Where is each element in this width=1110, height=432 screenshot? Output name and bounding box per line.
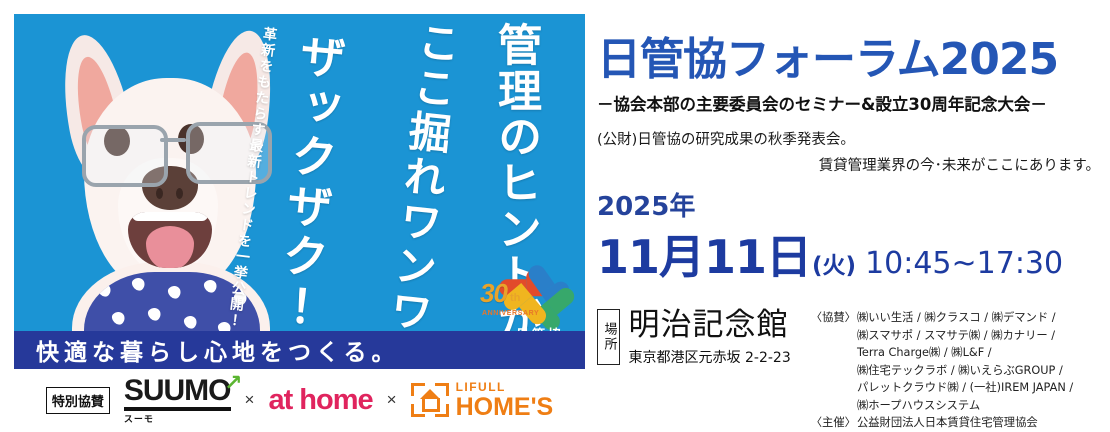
event-day-of-week: (火) [812, 246, 856, 280]
suumo-wordmark: SUUMO [124, 376, 231, 406]
sponsor-line: ㈱スマサポ / スマサテ㈱ / ㈱カナリー / [857, 327, 1073, 345]
eyeglasses-icon [80, 122, 266, 182]
suumo-arrow-icon: ↗ [224, 370, 242, 396]
event-subtitle: －協会本部の主要委員会のセミナー&設立30周年記念大会－ [597, 91, 1102, 115]
event-date-time: 11月11日 (火) 10:45~17:30 [597, 221, 1102, 287]
suumo-underline [124, 407, 231, 411]
lifull-wordmark: LIFULL [456, 381, 554, 393]
host-row: 〈主催〉 公益財団法人日本賃貸住宅管理協会 [811, 414, 1102, 432]
lifull-homes-logo[interactable]: LIFULL HOME'S [411, 381, 554, 420]
separator-times-2: × [387, 390, 397, 410]
event-year: 2025年 [597, 186, 1102, 223]
sponsor-line: Terra Charge㈱ / ㈱L&F / [857, 344, 1073, 362]
event-title: 日管協フォーラム2025 [597, 38, 1102, 82]
separator-times-1: × [245, 390, 255, 410]
venue-label: 場所 [597, 309, 620, 365]
sponsor-line: ㈱住宅テックラボ / ㈱いえらぶGROUP / [857, 362, 1073, 380]
sponsor-line: ㈱いい生活 / ㈱クラスコ / ㈱デマンド / [857, 309, 1073, 327]
anniversary-number: 30 [480, 278, 507, 309]
sponsor-strip: 特別協賛 SUUMO スーモ ↗ × at home × LIFULL HOME… [14, 375, 585, 425]
venue-block: 場所 明治記念館 東京都港区元赤坂 2-2-23 [597, 309, 791, 432]
poster-root: 革新をもたらす最新トレンドを一挙公開！ ザックザク！ ここ掘れワンワン！ 管理の… [0, 0, 1110, 432]
host-key: 〈主催〉 [811, 414, 856, 432]
venue-and-organizers-row: 場所 明治記念館 東京都港区元赤坂 2-2-23 〈協賛〉 ㈱いい生活 / ㈱ク… [597, 309, 1102, 432]
anniversary-ordinal: th [510, 292, 520, 304]
sponsor-list-row: 〈協賛〉 ㈱いい生活 / ㈱クラスコ / ㈱デマンド / ㈱スマサポ / スマサ… [811, 309, 1102, 414]
suumo-kana: スーモ [124, 412, 154, 425]
sponsor-list-key: 〈協賛〉 [811, 309, 856, 414]
homes-wordmark: HOME'S [456, 395, 554, 420]
sponsor-line: ㈱ホープハウスシステム [857, 397, 1073, 415]
sponsor-list-values: ㈱いい生活 / ㈱クラスコ / ㈱デマンド / ㈱スマサポ / スマサテ㈱ / … [857, 309, 1073, 414]
athome-logo[interactable]: at home [268, 384, 372, 417]
lead-text-line-1: (公財)日管協の研究成果の秋季発表会。 [597, 128, 1102, 149]
event-date: 11月11日 [597, 221, 811, 287]
suumo-logo[interactable]: SUUMO スーモ ↗ [124, 376, 231, 425]
lead-text-line-2: 賃貸管理業界の今･未来がここにあります。 [597, 154, 1102, 175]
tagline-bar: 快適な暮らし心地をつくる。 [14, 331, 585, 369]
sponsor-line: パレットクラウド㈱ / (一社)IREM JAPAN / [857, 379, 1073, 397]
tagline-text: 快適な暮らし心地をつくる。 [36, 333, 400, 367]
venue-address: 東京都港区元赤坂 2-2-23 [629, 347, 791, 367]
event-time: 10:45~17:30 [865, 246, 1063, 281]
special-sponsor-label: 特別協賛 [46, 387, 110, 414]
organizers-block: 〈協賛〉 ㈱いい生活 / ㈱クラスコ / ㈱デマンド / ㈱スマサポ / スマサ… [811, 309, 1102, 432]
host-value: 公益財団法人日本賃貸住宅管理協会 [857, 414, 1038, 432]
key-visual-panel: 革新をもたらす最新トレンドを一挙公開！ ザックザク！ ここ掘れワンワン！ 管理の… [14, 14, 585, 369]
venue-name: 明治記念館 [629, 309, 791, 342]
house-icon [411, 383, 449, 417]
vertical-copy-koko-hore: ここ掘れワンワン！ [366, 18, 469, 369]
anniversary-label: ANNIVERSARY [482, 310, 539, 317]
event-info-panel: 日管協フォーラム2025 －協会本部の主要委員会のセミナー&設立30周年記念大会… [597, 16, 1102, 420]
